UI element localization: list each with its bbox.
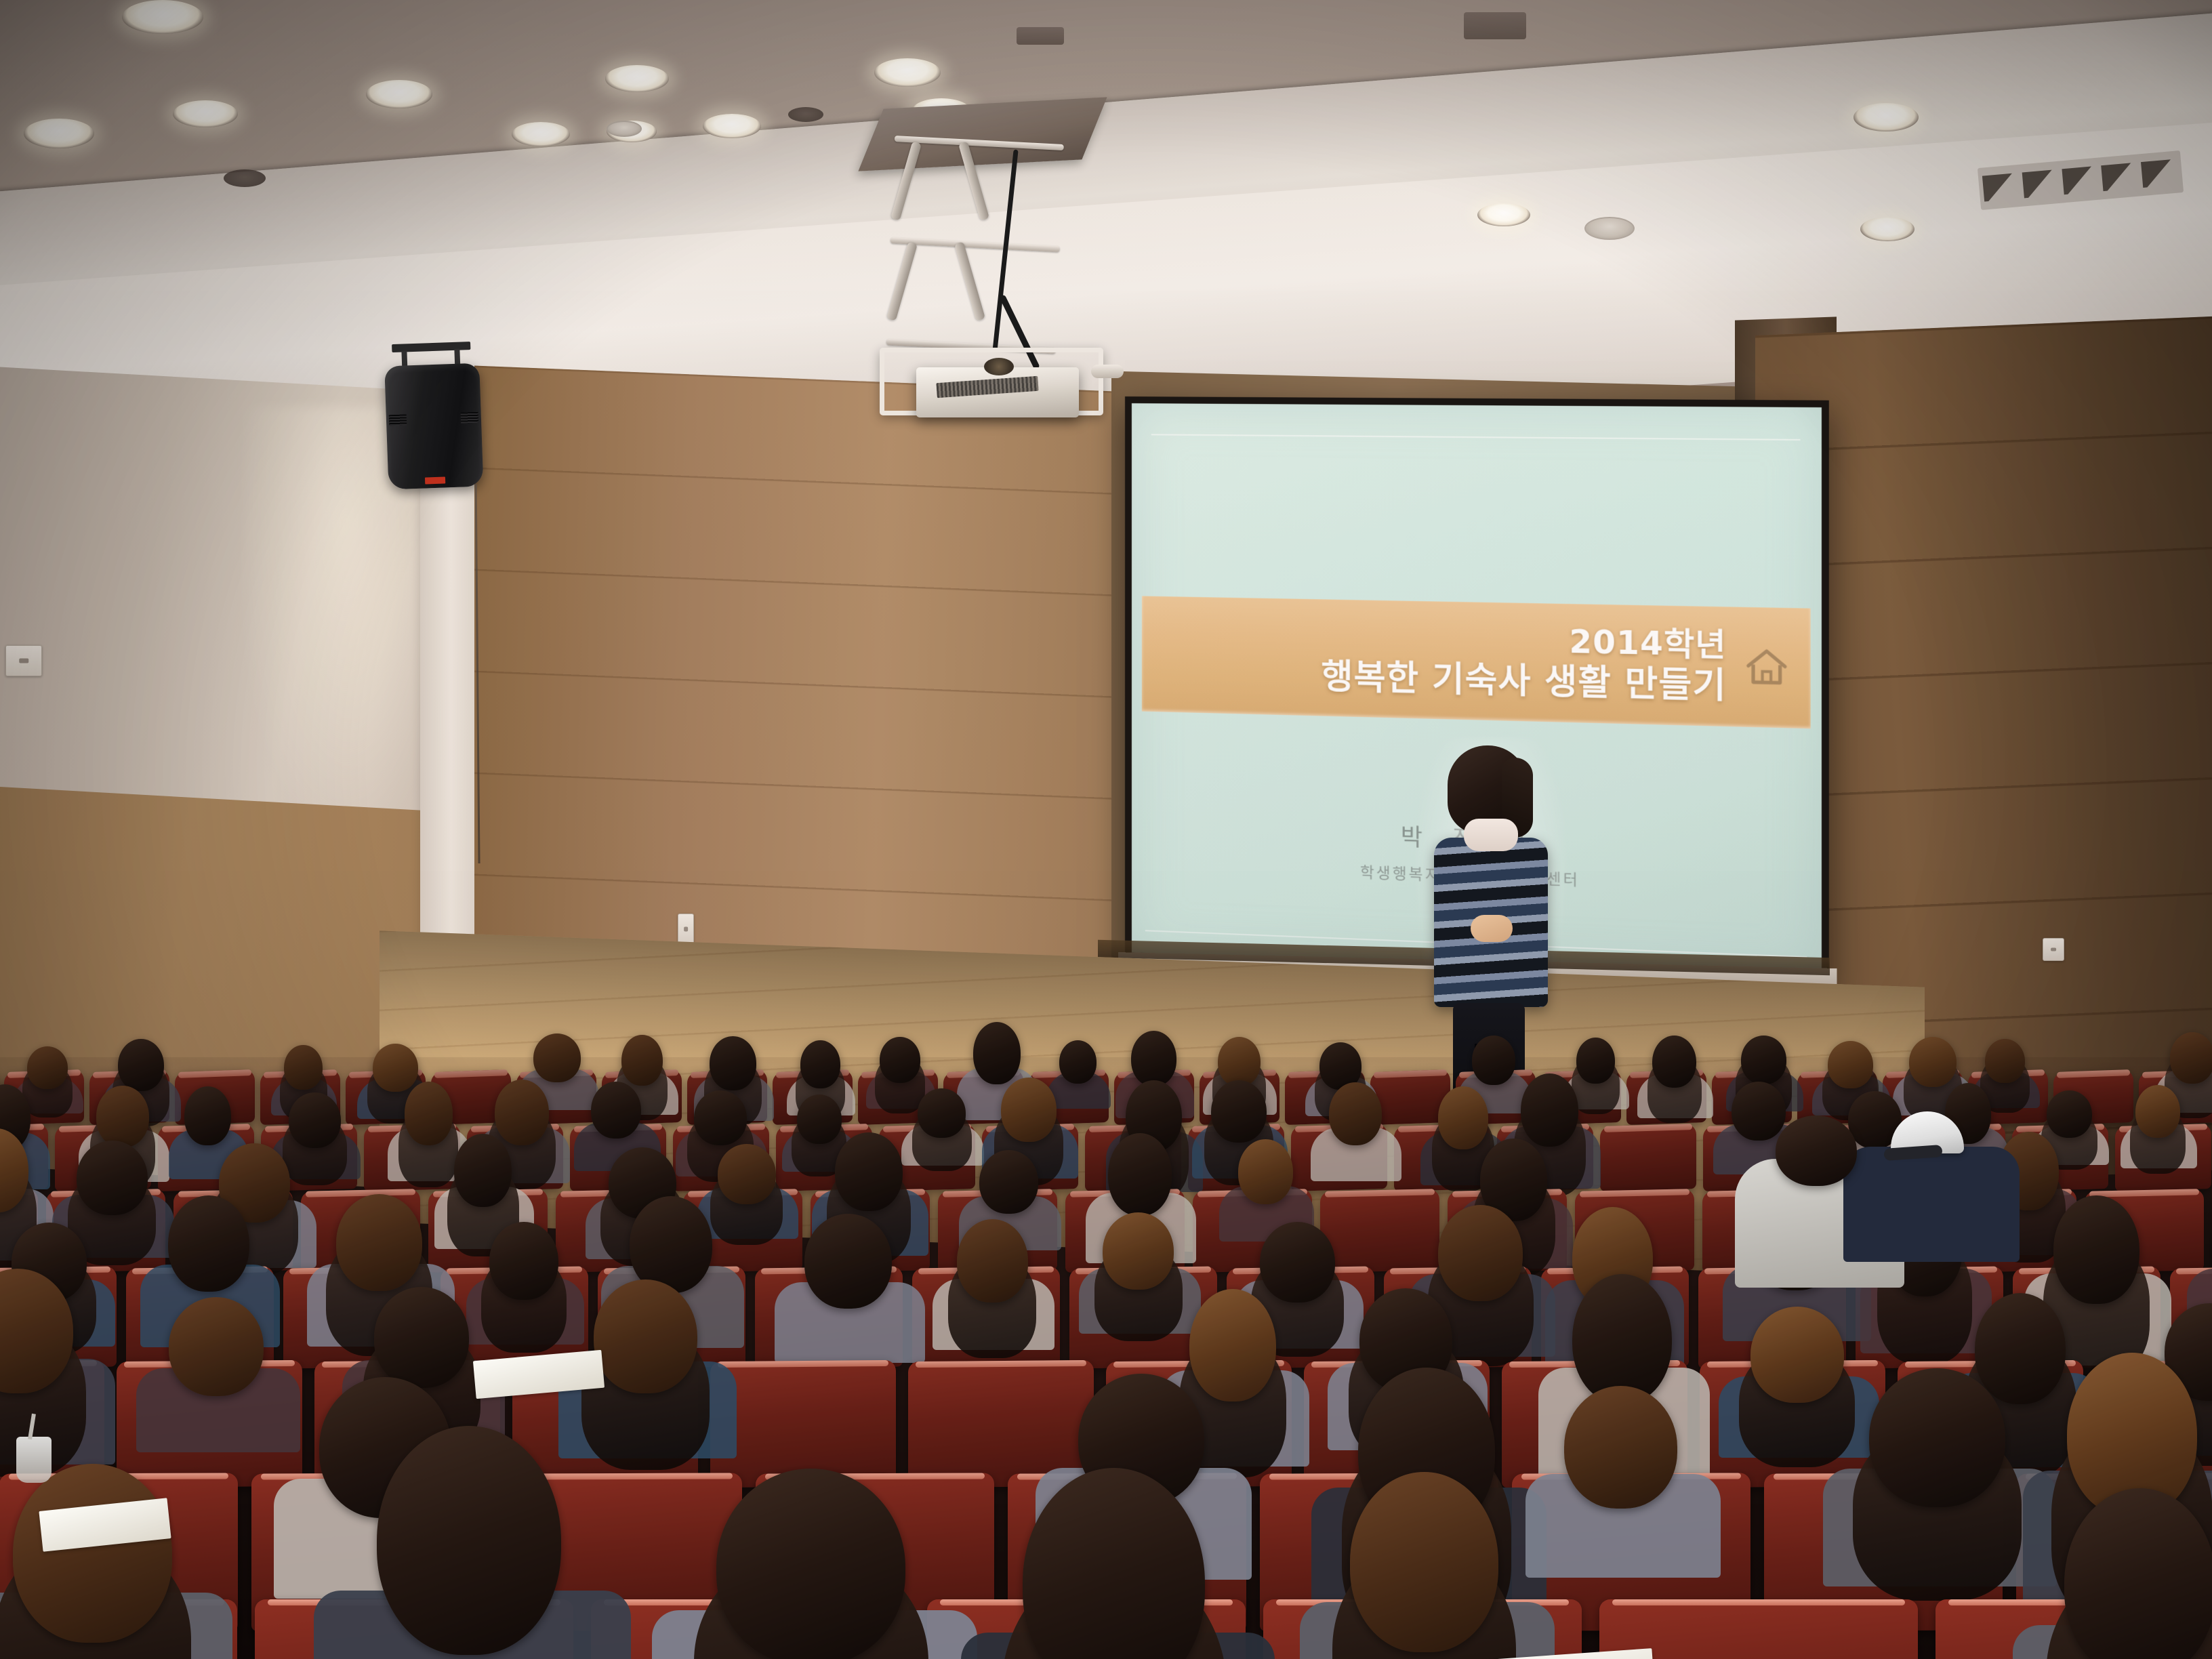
audience-member-head (1438, 1205, 1523, 1302)
audience-member-head (77, 1141, 148, 1215)
audience-member-head (621, 1035, 662, 1086)
audience-member-head (1576, 1038, 1615, 1084)
audience-member-head (168, 1195, 249, 1292)
audience-member-head (405, 1082, 453, 1145)
wall-switch-plate (5, 645, 42, 676)
jbl-logo (425, 476, 445, 484)
wall-outlet-plate3 (2043, 938, 2064, 961)
audience-member-head (1869, 1368, 2005, 1507)
speaker-body (384, 363, 483, 490)
drink-cup[interactable] (16, 1437, 52, 1483)
audience-member-head (374, 1287, 469, 1388)
audience-member-head (2170, 1032, 2212, 1084)
auditorium-photo: 2014학년 행복한 기숙사 생활 만들기 박 정 ㅁ 학생행복지원단 학생상담… (0, 0, 2212, 1659)
audience-member-head (1472, 1036, 1515, 1085)
audience-member-head (377, 1426, 561, 1655)
audience-member-head (1350, 1472, 1498, 1652)
audience-member-head (1652, 1036, 1696, 1088)
audience-member-head (630, 1196, 712, 1293)
lift-cross-4 (954, 241, 985, 321)
audience-member-head (373, 1044, 418, 1092)
audience-member-head (591, 1082, 641, 1139)
audience-member-head (1001, 1078, 1057, 1142)
audience-member-head (1572, 1274, 1672, 1404)
slide-title-text-block: 2014학년 행복한 기숙사 생활 만들기 (1321, 619, 1726, 705)
audience-member-head (1750, 1307, 1844, 1403)
audience-member-head (1238, 1139, 1293, 1204)
gray-hoodie-person-head (1776, 1115, 1857, 1186)
slide-title-band: 2014학년 행복한 기숙사 생활 만들기 (1142, 596, 1811, 729)
lift-cross-1 (890, 141, 922, 220)
audience-member-head (118, 1039, 163, 1091)
audience-member-head (495, 1080, 550, 1145)
audience-member-head (1828, 1041, 1873, 1088)
audience-member-head (1438, 1086, 1488, 1149)
audience-member-head (1103, 1212, 1174, 1290)
audience-member-head (716, 1469, 905, 1659)
audience-member-head (804, 1214, 893, 1309)
audience-member-head (336, 1194, 422, 1291)
audience-member-head (1564, 1386, 1677, 1508)
audience-member-head (973, 1022, 1021, 1084)
audience-member-head (957, 1219, 1028, 1303)
audience-member-head (594, 1279, 697, 1393)
audience-member-head (454, 1134, 512, 1207)
jbl-pa-speaker (384, 351, 484, 490)
audience-member-head (979, 1150, 1038, 1214)
audience-member-head (694, 1090, 747, 1145)
audience-member-head (284, 1045, 322, 1090)
audience-member-head (1211, 1080, 1267, 1143)
audience-member-head (1131, 1031, 1176, 1086)
audience-seat[interactable] (1320, 1189, 1439, 1273)
audience-member-head (2053, 1195, 2139, 1304)
audience-member-head (96, 1086, 149, 1147)
audience-member-head (797, 1094, 842, 1144)
audience-member-head (1218, 1037, 1261, 1086)
audience-member-head (533, 1033, 581, 1082)
audience-area (0, 1057, 2212, 1659)
audience-member-head (1521, 1073, 1578, 1147)
slide-top-rule (1151, 434, 1800, 441)
audience-member-head (1909, 1037, 1957, 1087)
audience-member-head (1732, 1082, 1786, 1141)
lift-cross-2 (958, 141, 989, 220)
projector-mount-knob (1091, 365, 1124, 378)
audience-seat[interactable] (1600, 1124, 1696, 1191)
audience-member-head (1059, 1040, 1097, 1084)
audience-member-head (184, 1086, 231, 1145)
audience-member-head (489, 1222, 558, 1300)
audience-member-head (1329, 1082, 1382, 1145)
wall-outlet-plate (678, 914, 694, 945)
white-cap-person-body (1843, 1147, 2020, 1262)
projector-vent (936, 376, 1038, 398)
audience-member-head (1985, 1039, 2025, 1083)
audience-member-head (1260, 1222, 1335, 1303)
ceiling-projector (916, 367, 1079, 417)
speaker-port-right (461, 412, 479, 424)
audience-member-head (27, 1046, 68, 1089)
house-icon (1744, 647, 1789, 689)
audience-member-head (169, 1297, 264, 1396)
audience-member-head (710, 1036, 756, 1090)
audience-member-head (2047, 1090, 2092, 1138)
scissor-lift-mount (895, 136, 1057, 352)
slide-title-line: 행복한 기숙사 생활 만들기 (1321, 657, 1726, 705)
audience-member-head (1975, 1293, 2066, 1404)
audience-member-head (918, 1088, 966, 1138)
audience-member-head (13, 1464, 171, 1643)
audience-member-head (1189, 1289, 1276, 1402)
presenter-scarf (1464, 819, 1518, 851)
audience-member-head (718, 1144, 776, 1204)
audience-member-head (880, 1037, 920, 1082)
audience-member-head (835, 1132, 903, 1211)
slide-year-line: 2014학년 (1321, 619, 1726, 663)
audience-member-head (2135, 1085, 2180, 1138)
audience-member-head (1108, 1133, 1172, 1216)
audience-member-head (800, 1040, 840, 1088)
audience-member-head (289, 1092, 340, 1148)
presenter-hands (1471, 915, 1513, 942)
projector-lens-icon (984, 358, 1014, 375)
audience-member-head (1741, 1036, 1786, 1084)
speaker-port-left (389, 414, 407, 426)
